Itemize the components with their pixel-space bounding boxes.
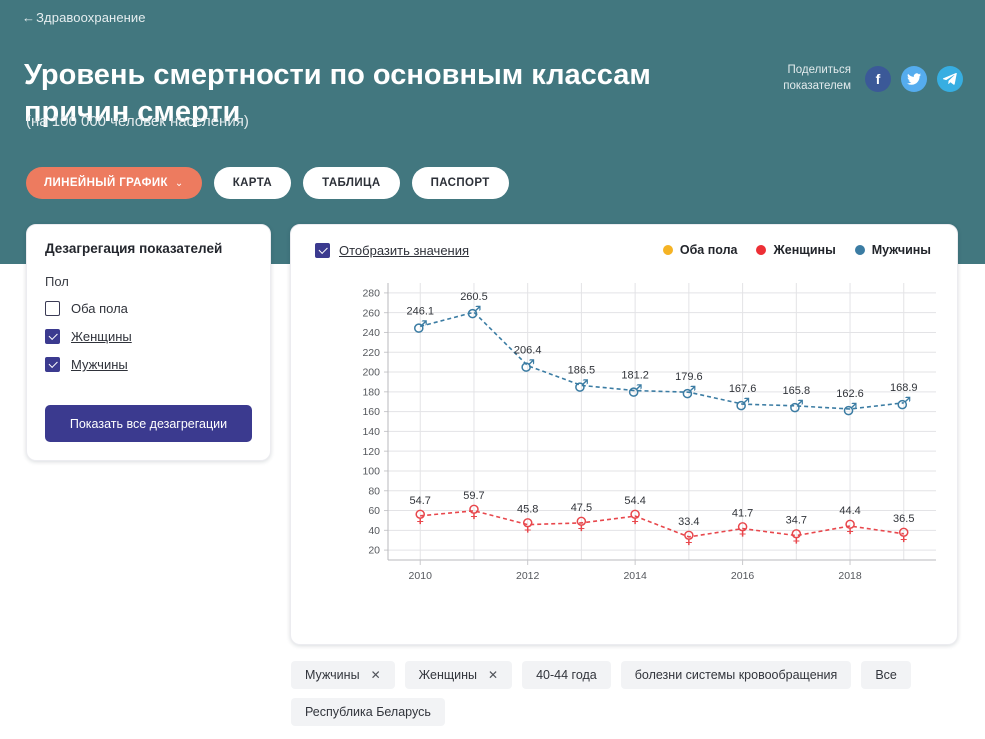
- disaggregation-panel: Дезагрегация показателей Пол Оба пола Же…: [26, 224, 271, 461]
- telegram-icon: [943, 73, 957, 85]
- twitter-share-button[interactable]: [901, 66, 927, 92]
- svg-text:♂: ♂: [896, 394, 911, 414]
- svg-text:179.6: 179.6: [675, 371, 703, 383]
- checkbox-label-both-sexes[interactable]: Оба пола: [71, 301, 128, 316]
- facebook-share-button[interactable]: f: [865, 66, 891, 92]
- svg-text:♀: ♀: [736, 520, 748, 540]
- disaggregation-group-label: Пол: [45, 274, 252, 289]
- tab-map[interactable]: КАРТА: [214, 167, 291, 199]
- legend-label-women: Женщины: [773, 243, 835, 257]
- svg-text:140: 140: [362, 426, 380, 438]
- svg-text:41.7: 41.7: [732, 508, 753, 520]
- svg-text:♀: ♀: [414, 507, 426, 527]
- svg-text:260: 260: [362, 307, 380, 319]
- checkbox-label-women[interactable]: Женщины: [71, 329, 132, 344]
- chart-legend: Оба пола Женщины Мужчины: [663, 243, 931, 257]
- chart-plot-area: 2040608010012014016018020022024026028020…: [291, 275, 959, 646]
- chart-card: Отобразить значения Оба пола Женщины Муж…: [290, 224, 958, 645]
- view-tabs: ЛИНЕЙНЫЙ ГРАФИК ⌄ КАРТА ТАБЛИЦА ПАСПОРТ: [26, 167, 509, 199]
- legend-dot-women: [756, 245, 766, 255]
- legend-item-men[interactable]: Мужчины: [855, 243, 931, 257]
- close-icon[interactable]: ✕: [371, 668, 381, 682]
- svg-text:2010: 2010: [409, 570, 433, 582]
- svg-text:♀: ♀: [898, 525, 910, 545]
- filter-chip-age[interactable]: 40-44 года: [522, 661, 611, 689]
- svg-text:2012: 2012: [516, 570, 540, 582]
- breadcrumb-label: Здравоохранение: [36, 10, 146, 25]
- telegram-share-button[interactable]: [937, 66, 963, 92]
- tab-line-chart[interactable]: ЛИНЕЙНЫЙ ГРАФИК ⌄: [26, 167, 202, 199]
- svg-text:40: 40: [368, 525, 380, 537]
- svg-text:♀: ♀: [629, 507, 641, 527]
- checkbox-row-men[interactable]: Мужчины: [45, 357, 252, 372]
- svg-text:160: 160: [362, 406, 380, 418]
- chevron-down-icon: ⌄: [175, 178, 184, 189]
- filter-chip-region[interactable]: Республика Беларусь: [291, 698, 445, 726]
- tab-line-chart-label: ЛИНЕЙНЫЙ ГРАФИК: [44, 177, 168, 189]
- svg-text:♂: ♂: [789, 397, 804, 417]
- legend-label-men: Мужчины: [872, 243, 931, 257]
- legend-dot-men: [855, 245, 865, 255]
- svg-text:54.4: 54.4: [624, 495, 645, 507]
- svg-text:47.5: 47.5: [571, 502, 592, 514]
- legend-label-both-sexes: Оба пола: [680, 243, 738, 257]
- svg-text:60: 60: [368, 505, 380, 517]
- svg-text:♀: ♀: [844, 517, 856, 537]
- filter-chip-women[interactable]: Женщины ✕: [405, 661, 512, 689]
- checkbox-men[interactable]: [45, 357, 60, 372]
- svg-text:162.6: 162.6: [836, 388, 864, 400]
- show-values-label[interactable]: Отобразить значения: [339, 243, 469, 258]
- svg-text:168.9: 168.9: [890, 382, 918, 394]
- twitter-icon: [907, 73, 921, 85]
- share-block: Поделиться показателем f: [783, 63, 963, 94]
- checkbox-both-sexes[interactable]: [45, 301, 60, 316]
- legend-dot-both-sexes: [663, 245, 673, 255]
- checkbox-row-women[interactable]: Женщины: [45, 329, 252, 344]
- filter-chip-women-label: Женщины: [419, 668, 477, 682]
- facebook-icon: f: [876, 71, 881, 87]
- share-label-line2: показателем: [783, 79, 851, 95]
- svg-text:100: 100: [362, 466, 380, 478]
- svg-text:59.7: 59.7: [463, 490, 484, 502]
- close-icon[interactable]: ✕: [488, 668, 498, 682]
- svg-text:2016: 2016: [731, 570, 755, 582]
- svg-text:80: 80: [368, 485, 380, 497]
- svg-text:246.1: 246.1: [406, 305, 434, 317]
- svg-text:33.4: 33.4: [678, 516, 699, 528]
- svg-text:120: 120: [362, 446, 380, 458]
- svg-text:220: 220: [362, 347, 380, 359]
- filter-chips: Мужчины ✕ Женщины ✕ 40-44 года болезни с…: [291, 661, 959, 726]
- filter-chip-men-label: Мужчины: [305, 668, 360, 682]
- share-label-line1: Поделиться: [783, 63, 851, 79]
- breadcrumb-back-link[interactable]: ←Здравоохранение: [22, 10, 146, 25]
- checkbox-label-men[interactable]: Мужчины: [71, 357, 128, 372]
- social-buttons: f: [865, 66, 963, 92]
- svg-text:165.8: 165.8: [783, 385, 811, 397]
- svg-text:180: 180: [362, 386, 380, 398]
- svg-text:♀: ♀: [468, 502, 480, 522]
- svg-text:36.5: 36.5: [893, 513, 914, 525]
- svg-text:200: 200: [362, 367, 380, 379]
- svg-text:45.8: 45.8: [517, 504, 538, 516]
- show-all-disaggregations-button[interactable]: Показать все дезагрегации: [45, 405, 252, 442]
- checkbox-show-values[interactable]: [315, 243, 330, 258]
- legend-item-women[interactable]: Женщины: [756, 243, 835, 257]
- svg-text:2018: 2018: [838, 570, 862, 582]
- legend-item-both-sexes[interactable]: Оба пола: [663, 243, 738, 257]
- svg-text:167.6: 167.6: [729, 383, 757, 395]
- back-arrow-icon: ←: [22, 10, 35, 25]
- svg-text:♂: ♂: [520, 357, 535, 377]
- svg-text:186.5: 186.5: [568, 364, 596, 376]
- svg-text:♀: ♀: [790, 527, 802, 547]
- filter-chip-all[interactable]: Все: [861, 661, 911, 689]
- show-values-toggle[interactable]: Отобразить значения: [315, 243, 469, 258]
- svg-text:260.5: 260.5: [460, 291, 488, 303]
- svg-text:♂: ♂: [735, 395, 750, 415]
- svg-text:54.7: 54.7: [410, 495, 431, 507]
- svg-text:240: 240: [362, 327, 380, 339]
- filter-chip-men[interactable]: Мужчины ✕: [291, 661, 395, 689]
- svg-text:♂: ♂: [574, 376, 589, 396]
- share-label: Поделиться показателем: [783, 63, 851, 94]
- svg-text:♀: ♀: [521, 516, 533, 536]
- disaggregation-title: Дезагрегация показателей: [45, 241, 252, 256]
- svg-text:206.4: 206.4: [514, 345, 542, 357]
- svg-text:♂: ♂: [628, 382, 643, 402]
- tab-table[interactable]: ТАБЛИЦА: [303, 167, 399, 199]
- svg-text:2014: 2014: [623, 570, 647, 582]
- svg-text:20: 20: [368, 545, 380, 557]
- svg-text:44.4: 44.4: [839, 505, 860, 517]
- chart-toolbar: Отобразить значения Оба пола Женщины Муж…: [291, 225, 957, 275]
- filter-chip-cause[interactable]: болезни системы кровообращения: [621, 661, 852, 689]
- svg-text:♂: ♂: [466, 303, 481, 323]
- svg-text:♀: ♀: [575, 514, 587, 534]
- tab-passport[interactable]: ПАСПОРТ: [412, 167, 509, 199]
- checkbox-row-both-sexes[interactable]: Оба пола: [45, 301, 252, 316]
- svg-text:♂: ♂: [842, 400, 857, 420]
- checkbox-women[interactable]: [45, 329, 60, 344]
- svg-text:34.7: 34.7: [786, 515, 807, 527]
- svg-text:181.2: 181.2: [621, 370, 649, 382]
- svg-text:♂: ♂: [681, 383, 696, 403]
- line-chart-svg: 2040608010012014016018020022024026028020…: [291, 275, 959, 646]
- page-subtitle: (на 100 000 человек населения): [26, 113, 249, 130]
- svg-text:♂: ♂: [413, 317, 428, 337]
- svg-text:280: 280: [362, 287, 380, 299]
- svg-text:♀: ♀: [683, 528, 695, 548]
